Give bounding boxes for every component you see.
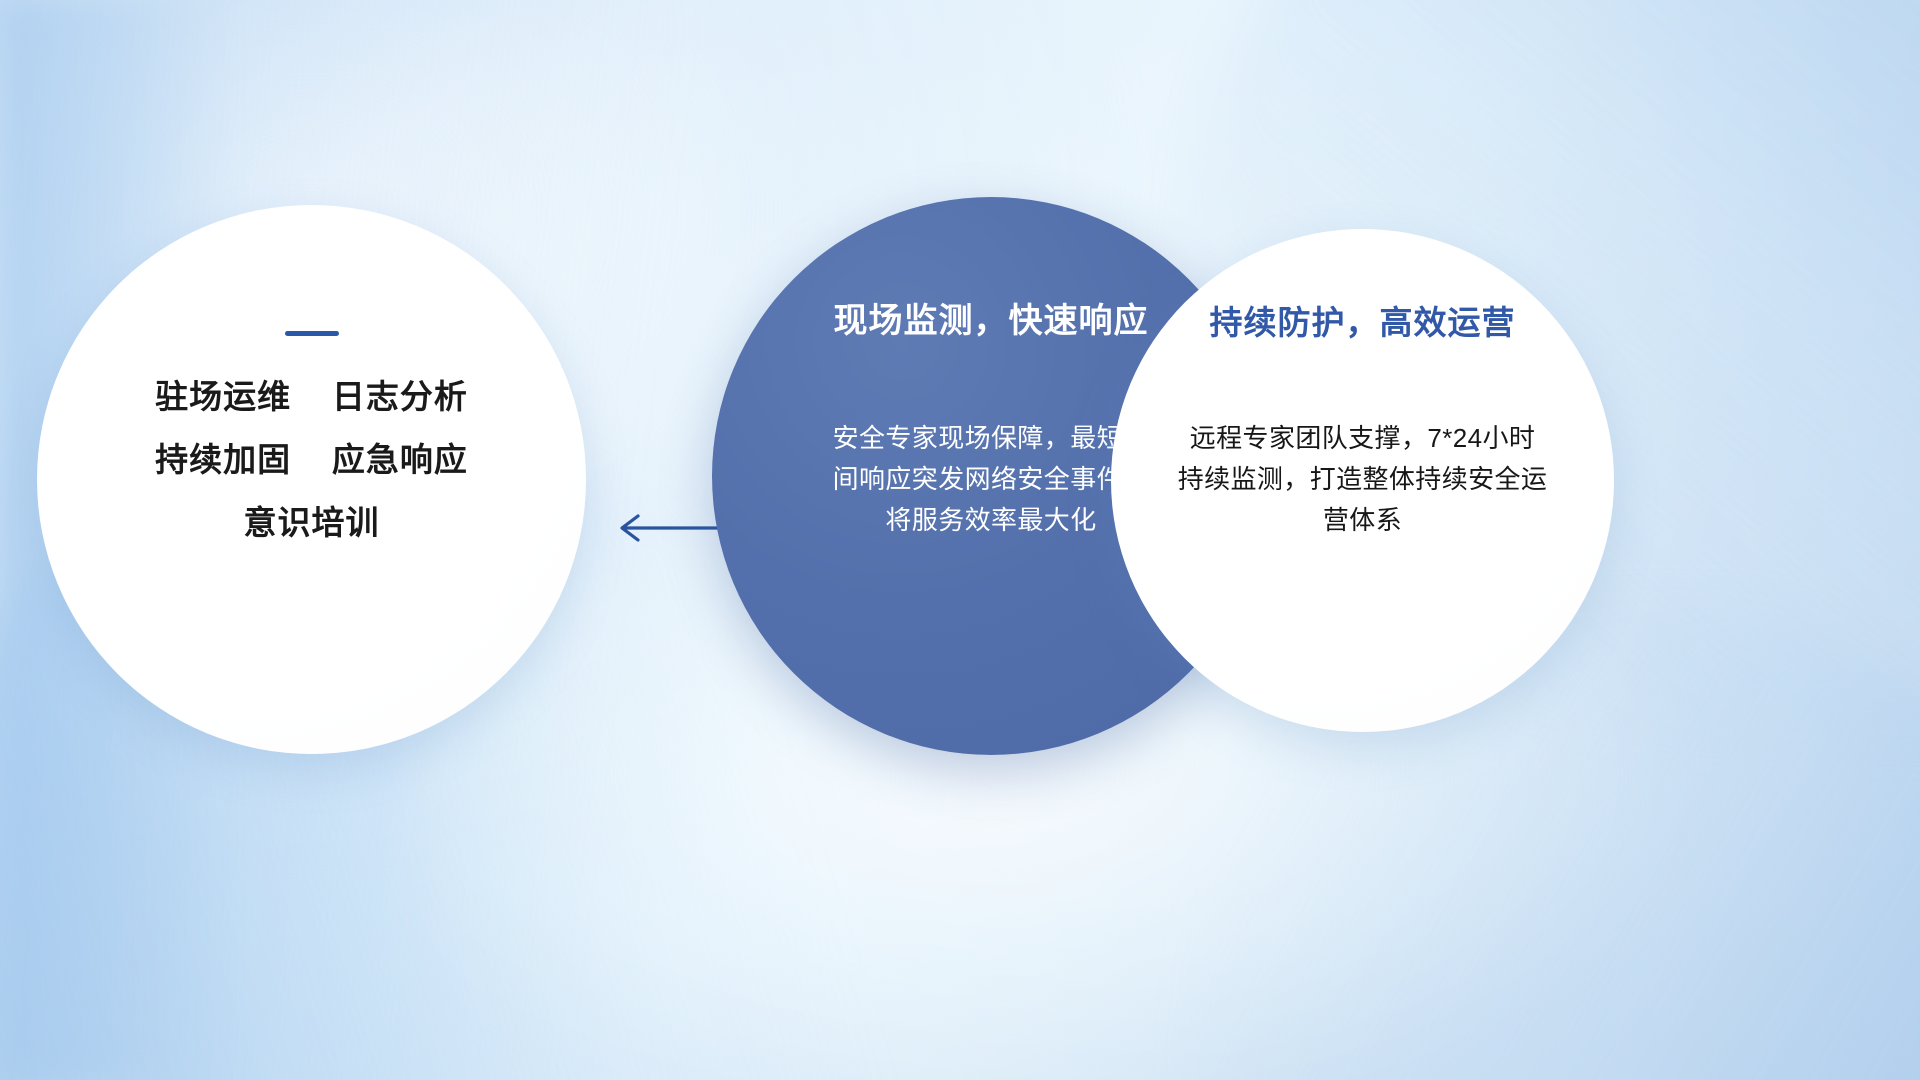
accent-dash-icon — [285, 331, 339, 336]
capability-line-1: 驻场运维 日志分析 — [155, 380, 468, 413]
continuous-protection-circle[interactable]: 持续防护，高效运营 远程专家团队支撑，7*24小时持续监测，打造整体持续安全运营… — [1111, 229, 1614, 732]
capability-line-2: 持续加固 应急响应 — [155, 443, 468, 476]
onsite-monitoring-title: 现场监测，快速响应 — [834, 293, 1149, 342]
continuous-protection-body: 远程专家团队支撑，7*24小时持续监测，打造整体持续安全运营体系 — [1178, 418, 1548, 541]
capability-line-3: 意识培训 — [244, 506, 380, 539]
capabilities-circle[interactable]: 驻场运维 日志分析 持续加固 应急响应 意识培训 — [37, 205, 586, 754]
onsite-monitoring-body: 安全专家现场保障，最短时间响应突发网络安全事件，将服务效率最大化 — [831, 418, 1151, 541]
continuous-protection-title: 持续防护，高效运营 — [1210, 296, 1516, 344]
